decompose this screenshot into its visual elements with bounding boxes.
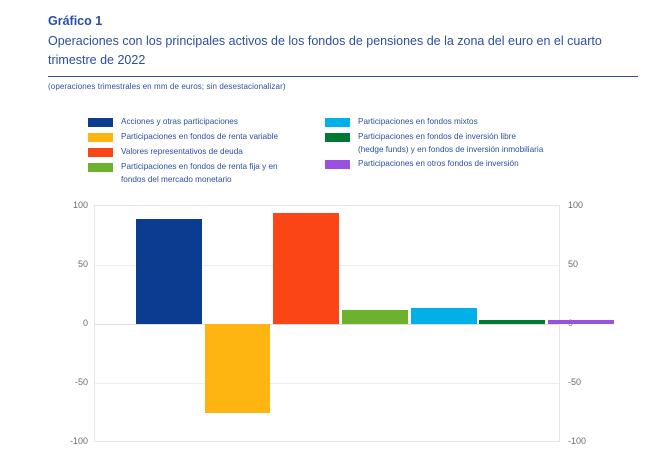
legend-label-bond-mmf-shares: Participaciones en fondos de renta fija … bbox=[121, 161, 325, 174]
chart-plot-area[interactable] bbox=[94, 205, 560, 442]
legend-swatch-equity bbox=[88, 118, 113, 127]
legend-item-other-fund-shares[interactable]: Participaciones en otros fondos de inver… bbox=[325, 158, 575, 171]
legend-label-equity: Acciones y otras participaciones bbox=[121, 116, 325, 129]
bar-participaciones-fondos-mixtos[interactable] bbox=[411, 308, 477, 324]
legend-label-hedge-funds-italic: (hedge funds) bbox=[358, 145, 409, 154]
legend-column-left: Acciones y otras participaciones Partici… bbox=[88, 116, 325, 188]
y-tick-left-0: 0 bbox=[48, 318, 88, 328]
bar-participaciones-otros-fondos-inversion[interactable] bbox=[548, 320, 614, 324]
legend-label-mixed-fund-shares: Participaciones en fondos mixtos bbox=[358, 116, 575, 129]
legend-label-debt-securities: Valores representativos de deuda bbox=[121, 146, 325, 159]
y-tick-right-100: 100 bbox=[568, 200, 608, 210]
legend-label-hedge-realestate-shares-line2: (hedge funds) y en fondos de inversión i… bbox=[358, 144, 575, 157]
chart-plot-wrapper: 100 50 0 -50 -100 100 50 0 -50 -100 bbox=[0, 0, 646, 476]
legend-column-right: Participaciones en fondos mixtos Partici… bbox=[325, 116, 575, 173]
chart-header: Gráfico 1 Operaciones con los principale… bbox=[48, 12, 638, 70]
legend-label-hedge-realestate-rest: y en fondos de inversión inmobiliaria bbox=[409, 145, 544, 154]
legend-swatch-hedge-realestate-shares bbox=[325, 133, 350, 142]
legend-swatch-debt-securities bbox=[88, 148, 113, 157]
y-tick-left-neg100: -100 bbox=[48, 436, 88, 446]
legend-item-debt-securities[interactable]: Valores representativos de deuda bbox=[88, 146, 325, 159]
chart-subtitle: (operaciones trimestrales en mm de euros… bbox=[48, 82, 286, 91]
legend-swatch-other-fund-shares bbox=[325, 160, 350, 169]
legend-item-bond-mmf-shares[interactable]: Participaciones en fondos de renta fija … bbox=[88, 161, 325, 186]
y-tick-right-neg100: -100 bbox=[568, 436, 608, 446]
legend-label-other-fund-shares: Participaciones en otros fondos de inver… bbox=[358, 158, 575, 171]
legend-item-equity[interactable]: Acciones y otras participaciones bbox=[88, 116, 325, 129]
bar-participaciones-fondos-renta-variable[interactable] bbox=[205, 324, 270, 413]
y-tick-right-neg50: -50 bbox=[568, 377, 608, 387]
bar-series bbox=[95, 206, 559, 441]
legend-label-equity-fund-shares: Participaciones en fondos de renta varia… bbox=[121, 131, 325, 144]
page-title: Operaciones con los principales activos … bbox=[48, 32, 628, 70]
legend-label-bond-mmf-shares-line2: fondos del mercado monetario bbox=[121, 174, 325, 187]
y-tick-left-100: 100 bbox=[48, 200, 88, 210]
bar-participaciones-fondos-renta-fija-mmf[interactable] bbox=[342, 310, 408, 324]
bar-valores-representativos-de-deuda[interactable] bbox=[273, 213, 339, 324]
header-divider bbox=[48, 76, 638, 77]
legend-label-hedge-realestate-shares: Participaciones en fondos de inversión l… bbox=[358, 131, 575, 144]
legend-item-hedge-realestate-shares[interactable]: Participaciones en fondos de inversión l… bbox=[325, 131, 575, 156]
legend-item-equity-fund-shares[interactable]: Participaciones en fondos de renta varia… bbox=[88, 131, 325, 144]
y-tick-left-50: 50 bbox=[48, 259, 88, 269]
bar-acciones-y-otras-participaciones[interactable] bbox=[136, 219, 202, 324]
y-tick-left-neg50: -50 bbox=[48, 377, 88, 387]
legend-swatch-bond-mmf-shares bbox=[88, 163, 113, 172]
legend-item-mixed-fund-shares[interactable]: Participaciones en fondos mixtos bbox=[325, 116, 575, 129]
chart-number: Gráfico 1 bbox=[48, 12, 638, 30]
legend-swatch-mixed-fund-shares bbox=[325, 118, 350, 127]
bar-participaciones-fondos-inversion-libre-inmobiliaria[interactable] bbox=[479, 320, 545, 324]
y-tick-right-50: 50 bbox=[568, 259, 608, 269]
chart-legend: Acciones y otras participaciones Partici… bbox=[88, 116, 588, 188]
legend-swatch-equity-fund-shares bbox=[88, 133, 113, 142]
